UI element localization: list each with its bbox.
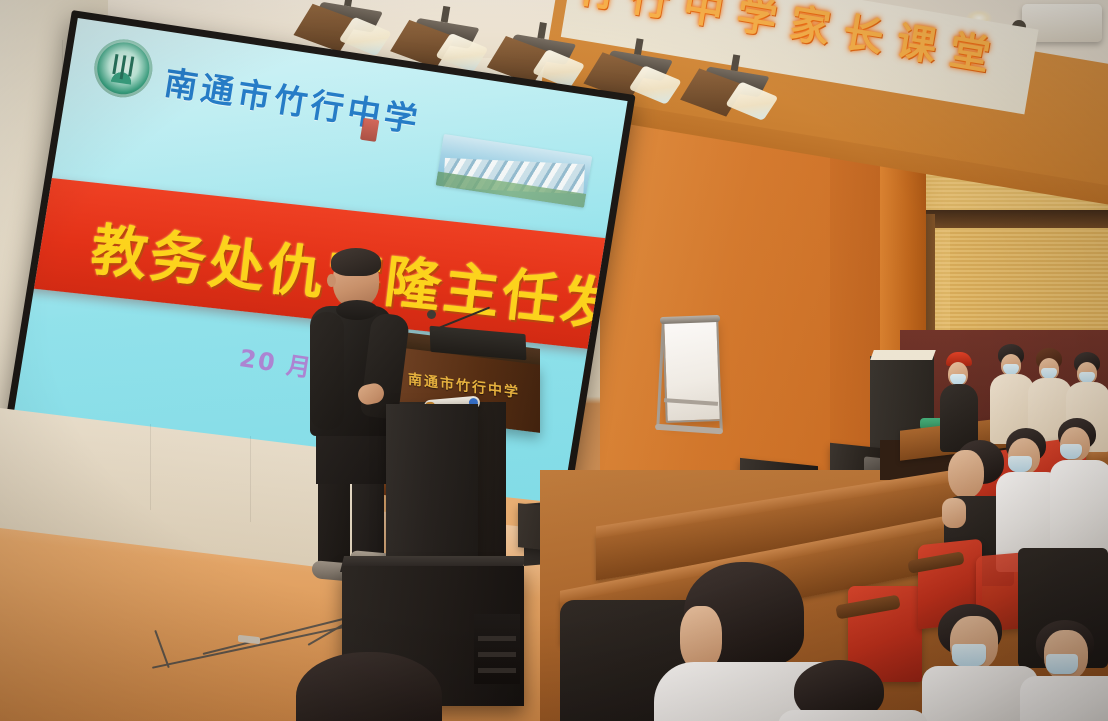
campus-aerial-photo: [436, 134, 593, 208]
face-mask: [952, 644, 986, 666]
person-head: [948, 450, 984, 498]
wall-seam: [150, 424, 151, 510]
subwoofer-port: [474, 614, 520, 684]
person-body: [778, 710, 928, 721]
person-body: [1050, 460, 1108, 560]
face-mask: [1008, 456, 1032, 472]
school-crest-icon: [90, 35, 157, 101]
slide-school-name: 南通市竹行中学: [161, 56, 425, 142]
face-mask: [1046, 654, 1078, 674]
auditorium-photo: 竹行中学家长课堂 南通市竹行中学: [0, 0, 1108, 721]
wall-seam: [250, 436, 251, 522]
person-hand: [942, 498, 966, 528]
wall-reveal: [918, 210, 1108, 228]
presenter-hair: [331, 248, 381, 276]
person-body: [1020, 676, 1108, 721]
amplifier-rack-top: [870, 350, 936, 360]
microphone-head-icon: [427, 310, 436, 319]
calligraphy-seal-icon: [360, 118, 379, 142]
face-mask: [1060, 444, 1082, 459]
person-head: [680, 606, 722, 670]
